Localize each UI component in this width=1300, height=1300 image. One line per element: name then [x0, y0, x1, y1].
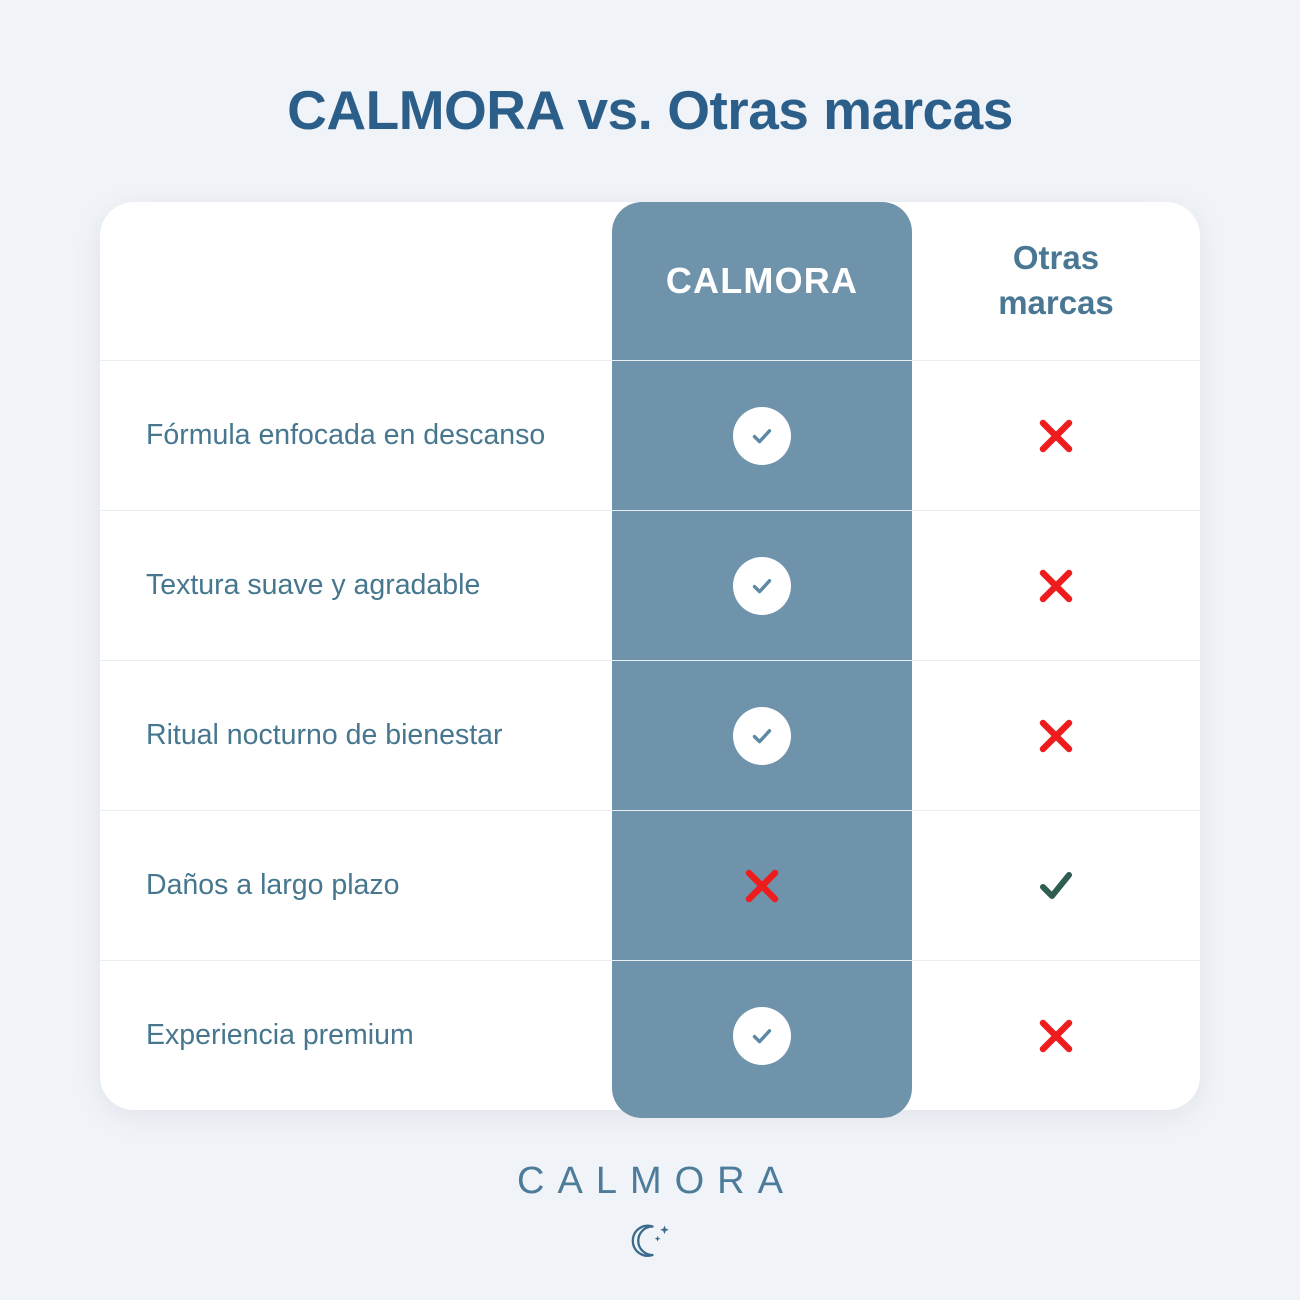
header-label-other-line1: Otras: [1013, 239, 1099, 276]
cell-calmora: [612, 407, 912, 465]
header-label-other-line2: marcas: [998, 284, 1114, 321]
cross-icon: [1031, 1011, 1081, 1061]
check-circle-icon: [733, 407, 791, 465]
cell-calmora: [612, 1007, 912, 1065]
cell-other: [912, 561, 1200, 611]
cross-icon: [737, 861, 787, 911]
cross-icon: [1031, 711, 1081, 761]
row-label: Experiencia premium: [100, 1013, 612, 1058]
cell-other: [912, 1011, 1200, 1061]
row-label: Ritual nocturno de bienestar: [100, 713, 612, 758]
table-row: Textura suave y agradable: [100, 510, 1200, 660]
row-label: Daños a largo plazo: [100, 863, 612, 908]
cross-icon: [1031, 561, 1081, 611]
row-label: Fórmula enfocada en descanso: [100, 413, 612, 458]
header-cell-calmora: CALMORA: [612, 260, 912, 302]
table-row: Ritual nocturno de bienestar: [100, 660, 1200, 810]
header-label-other: Otras marcas: [998, 236, 1114, 325]
cell-other: [912, 711, 1200, 761]
cell-calmora: [612, 707, 912, 765]
comparison-infographic: CALMORA vs. Otras marcas CALMORA Otras m…: [0, 0, 1300, 1300]
header-label-calmora: CALMORA: [666, 260, 858, 302]
table-row: Fórmula enfocada en descanso: [100, 360, 1200, 510]
cell-other: [912, 411, 1200, 461]
cell-calmora: [612, 557, 912, 615]
table-row: Daños a largo plazo: [100, 810, 1200, 960]
cell-calmora: [612, 861, 912, 911]
check-icon: [1030, 860, 1082, 912]
page-title: CALMORA vs. Otras marcas: [0, 78, 1300, 142]
footer-brand: CALMORA: [0, 1160, 1300, 1263]
comparison-table: CALMORA Otras marcas Fórmula enfocada en…: [100, 202, 1200, 1110]
header-cell-other: Otras marcas: [912, 236, 1200, 325]
table-row: Experiencia premium: [100, 960, 1200, 1110]
cross-icon: [1031, 411, 1081, 461]
check-circle-icon: [733, 707, 791, 765]
footer-brand-name: CALMORA: [0, 1160, 1300, 1203]
check-circle-icon: [733, 1007, 791, 1065]
cell-other: [912, 860, 1200, 912]
table-header-row: CALMORA Otras marcas: [100, 202, 1200, 360]
check-circle-icon: [733, 557, 791, 615]
row-label: Textura suave y agradable: [100, 563, 612, 608]
crescent-moon-stars-icon: [0, 1217, 1300, 1263]
